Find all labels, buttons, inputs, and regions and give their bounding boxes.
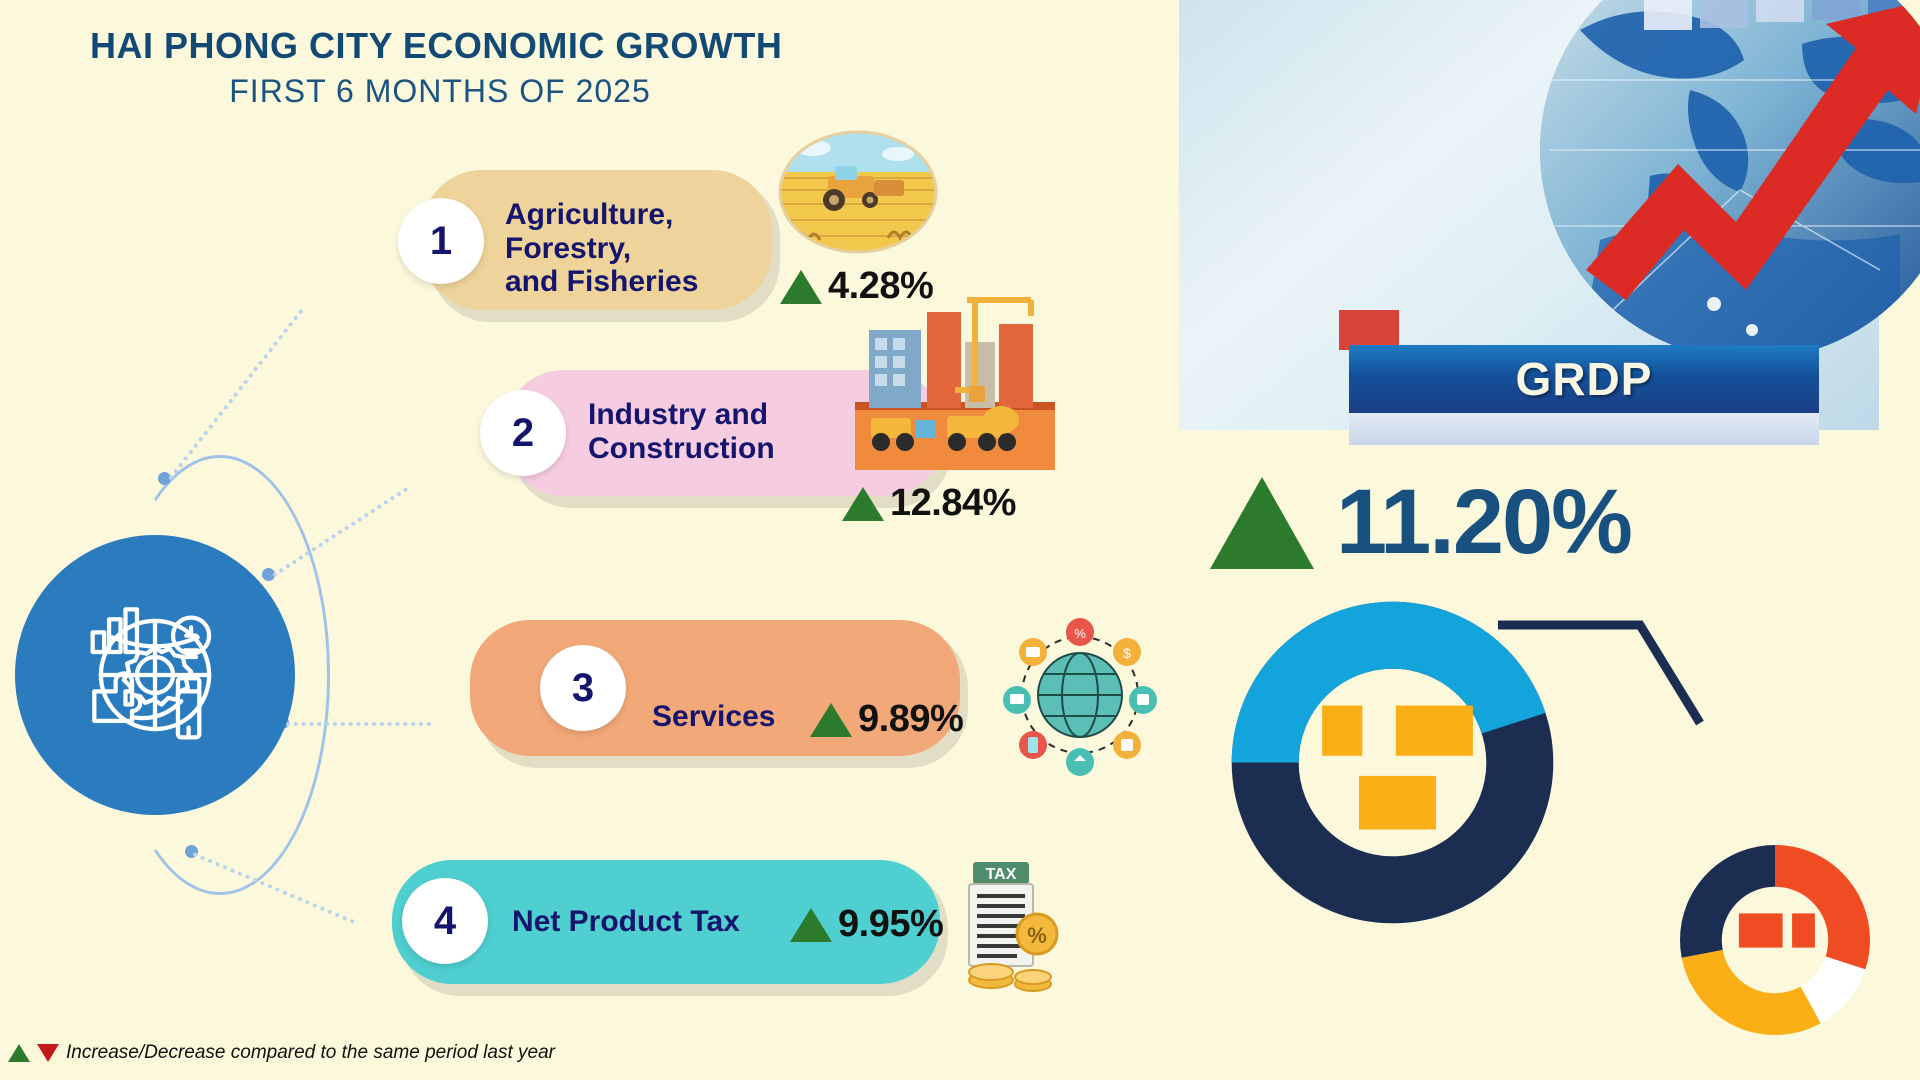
card-label-3: Services	[652, 700, 775, 734]
donut-chart-large[interactable]	[1225, 595, 1560, 930]
card-label-line: and Fisheries	[505, 265, 698, 299]
svg-text:TAX: TAX	[986, 866, 1017, 883]
triangle-down-icon	[37, 1044, 59, 1062]
grdp-title-bar: GRDP	[1349, 345, 1819, 413]
card-label-line: Agriculture,	[505, 198, 698, 232]
grdp-bar-lower	[1349, 413, 1819, 445]
card-number-3: 3	[540, 645, 626, 731]
card-label-1: Agriculture, Forestry, and Fisheries	[505, 198, 698, 299]
global-services-icon: % $	[995, 610, 1165, 780]
page-subtitle: FIRST 6 MONTHS OF 2025	[90, 72, 790, 110]
economic-analytics-icon	[73, 593, 237, 757]
card-number-4: 4	[402, 878, 488, 964]
card-label-line: Net Product Tax	[512, 905, 740, 939]
card-value-group-1: 4.28%	[780, 265, 933, 308]
tractor-field-icon	[778, 130, 938, 255]
grdp-headline-value: 11.20%	[1336, 470, 1631, 575]
triangle-up-icon	[8, 1044, 30, 1062]
triangle-up-icon	[790, 908, 832, 942]
card-label-line: Construction	[588, 432, 775, 466]
card-label-4: Net Product Tax	[512, 905, 740, 939]
card-value-group-3: 9.89%	[810, 698, 963, 741]
tax-document-coins-icon: TAX %	[945, 848, 1075, 998]
triangle-up-icon	[780, 270, 822, 304]
card-value-2: 12.84%	[890, 482, 1016, 525]
svg-text:%: %	[1074, 626, 1086, 641]
title-block: HAI PHONG CITY ECONOMIC GROWTH FIRST 6 M…	[90, 25, 890, 111]
card-value-group-4: 9.95%	[790, 903, 943, 946]
card-label-2: Industry and Construction	[588, 398, 775, 465]
grdp-red-tab	[1339, 310, 1399, 350]
right-panel: GRDP 11.20%	[1180, 0, 1920, 1080]
grdp-label: GRDP	[1516, 352, 1653, 406]
card-value-3: 9.89%	[858, 698, 963, 741]
svg-text:%: %	[1027, 923, 1047, 948]
hub-circle	[15, 535, 295, 815]
card-number-1: 1	[398, 198, 484, 284]
card-label-line: Industry and	[588, 398, 775, 432]
triangle-up-icon	[810, 703, 852, 737]
svg-text:$: $	[1123, 645, 1131, 661]
card-value-4: 9.95%	[838, 903, 943, 946]
triangle-up-icon	[842, 487, 884, 521]
donut-chart-small[interactable]	[1680, 845, 1870, 1035]
card-value-1: 4.28%	[828, 265, 933, 308]
card-label-line: Services	[652, 700, 775, 734]
footnote-text: Increase/Decrease compared to the same p…	[66, 1042, 555, 1064]
footnote: Increase/Decrease compared to the same p…	[8, 1042, 555, 1064]
connector-line-3	[286, 722, 431, 726]
orange-blocks-icon	[1322, 706, 1473, 830]
card-value-group-2: 12.84%	[842, 482, 1016, 525]
card-number-2: 2	[480, 390, 566, 476]
red-blocks-icon	[1739, 913, 1815, 947]
left-panel: HAI PHONG CITY ECONOMIC GROWTH FIRST 6 M…	[0, 0, 1180, 1080]
connector-line-1	[168, 309, 304, 481]
grdp-banner: GRDP	[1179, 0, 1920, 430]
construction-site-icon	[855, 290, 1055, 470]
card-label-line: Forestry,	[505, 232, 698, 266]
grdp-headline: 11.20%	[1210, 470, 1631, 575]
triangle-up-icon	[1210, 477, 1314, 569]
page-title: HAI PHONG CITY ECONOMIC GROWTH	[90, 25, 890, 66]
